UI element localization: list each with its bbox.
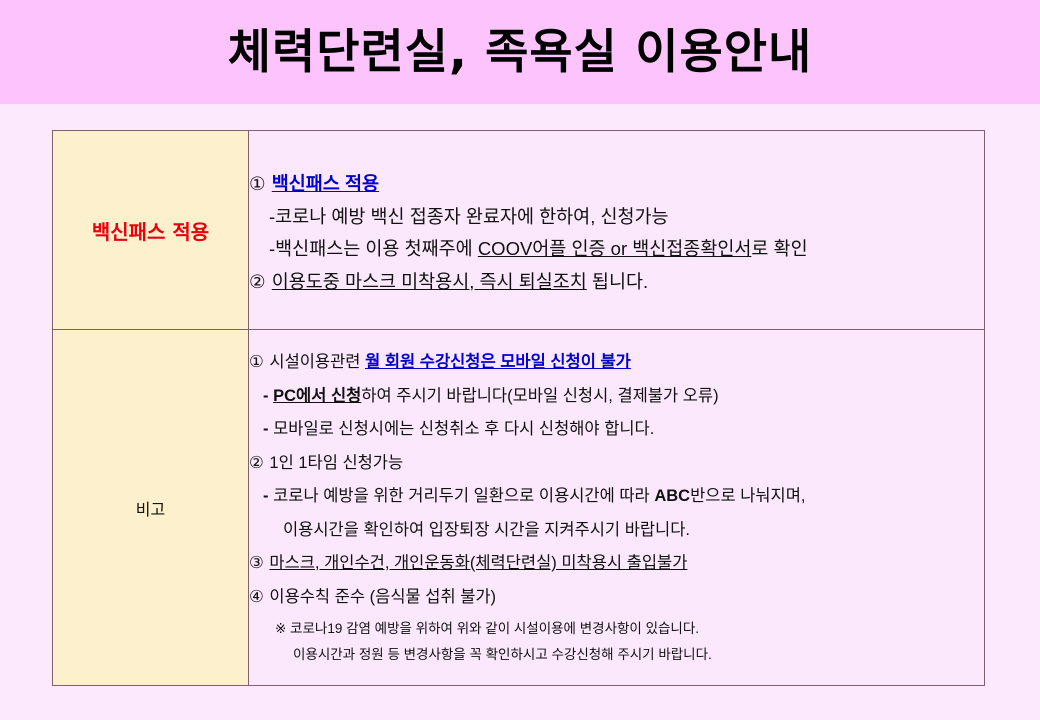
list-item-text: 이용시간을 확인하여 입장퇴장 시간을 지켜주시기 바랍니다.	[283, 521, 690, 539]
page-title: 체력단련실, 족욕실 이용안내	[228, 29, 812, 76]
row-body-cell-remarks: ① 시설이용관련 월 회원 수강신청은 모바일 신청이 불가 - PC에서 신청…	[249, 330, 985, 686]
list-item: - 모바일로 신청시에는 신청취소 후 다시 신청해야 합니다.	[249, 421, 984, 438]
list-item: 이용시간을 확인하여 입장퇴장 시간을 지켜주시기 바랍니다.	[249, 522, 984, 539]
footnote-text: ※ 코로나19 감염 예방을 위하여 위와 같이 시설이용에 변경사항이 있습니…	[275, 621, 699, 636]
row-label-remarks: 비고	[136, 502, 165, 519]
row-label-vaccine-pass: 백신패스 적용	[92, 220, 209, 244]
list-item-text-emphasis: PC에서 신청	[273, 387, 361, 405]
list-item: - 코로나 예방을 위한 거리두기 일환으로 이용시간에 따라 ABC반으로 나…	[249, 488, 984, 505]
list-item-text-highlighted: 월 회원 수강신청은 모바일 신청이 불가	[365, 353, 631, 371]
list-marker: ③	[249, 554, 265, 572]
list-item: ① 백신패스 적용	[249, 175, 984, 194]
list-item: - PC에서 신청하여 주시기 바랍니다(모바일 신청시, 결제불가 오류)	[249, 388, 984, 405]
list-item-text: 반으로 나눠지며,	[690, 487, 805, 505]
list-item: ② 이용도중 마스크 미착용시, 즉시 퇴실조치 됩니다.	[249, 273, 984, 292]
footnote-text: 이용시간과 정원 등 변경사항을 꼭 확인하시고 수강신청해 주시기 바랍니다.	[293, 647, 712, 662]
list-item-text: 됩니다.	[587, 271, 648, 292]
list-item-text: 1인 1타임 신청가능	[269, 454, 403, 472]
list-marker: ①	[249, 173, 267, 194]
row-body-cell-vaccine-pass: ① 백신패스 적용 -코로나 예방 백신 접종자 완료자에 한하여, 신청가능 …	[249, 131, 985, 330]
list-item-text-emphasis: ABC	[654, 487, 690, 505]
list-item: ② 1인 1타임 신청가능	[249, 455, 984, 472]
list-item: -백신패스는 이용 첫째주에 COOV어플 인증 or 백신접종확인서로 확인	[249, 240, 984, 259]
bullet-dash: -	[263, 387, 273, 405]
notice-table: 백신패스 적용 ① 백신패스 적용 -코로나 예방 백신 접종자 완료자에 한하…	[52, 130, 985, 686]
list-marker: ②	[249, 454, 265, 472]
table-row-remarks: 비고 ① 시설이용관련 월 회원 수강신청은 모바일 신청이 불가 - PC에서…	[53, 330, 985, 686]
bullet-dash: -	[263, 420, 273, 438]
list-item: ③ 마스크, 개인수건, 개인운동화(체력단련실) 미착용시 출입불가	[249, 555, 984, 572]
list-item: ④ 이용수칙 준수 (음식물 섭취 불가)	[249, 589, 984, 606]
list-item-text: 이용수칙 준수 (음식물 섭취 불가)	[269, 588, 496, 606]
list-item-text: 모바일로 신청시에는 신청취소 후 다시 신청해야 합니다.	[273, 420, 654, 438]
list-item-text: -백신패스는 이용 첫째주에	[269, 238, 478, 259]
row-label-cell-remarks: 비고	[53, 330, 249, 686]
list-item: ① 시설이용관련 월 회원 수강신청은 모바일 신청이 불가	[249, 354, 984, 371]
table-row-vaccine-pass: 백신패스 적용 ① 백신패스 적용 -코로나 예방 백신 접종자 완료자에 한하…	[53, 131, 985, 330]
list-marker: ④	[249, 588, 265, 606]
list-item-text: 시설이용관련	[269, 353, 365, 371]
notice-table-wrapper: 백신패스 적용 ① 백신패스 적용 -코로나 예방 백신 접종자 완료자에 한하…	[52, 130, 985, 686]
footnote-line: 이용시간과 정원 등 변경사항을 꼭 확인하시고 수강신청해 주시기 바랍니다.	[249, 648, 984, 662]
list-item-text-underlined: 마스크, 개인수건, 개인운동화(체력단련실) 미착용시 출입불가	[269, 554, 687, 572]
list-item-text-underlined: COOV어플 인증 or 백신접종확인서	[478, 238, 752, 259]
list-item-text: 코로나 예방을 위한 거리두기 일환으로 이용시간에 따라	[273, 487, 654, 505]
row-label-cell-vaccine-pass: 백신패스 적용	[53, 131, 249, 330]
list-item-text: 하여 주시기 바랍니다(모바일 신청시, 결제불가 오류)	[361, 387, 718, 405]
footnote-line: ※ 코로나19 감염 예방을 위하여 위와 같이 시설이용에 변경사항이 있습니…	[249, 622, 984, 636]
list-marker: ②	[249, 271, 267, 292]
list-marker: ①	[249, 353, 265, 371]
list-item-text: -코로나 예방 백신 접종자 완료자에 한하여, 신청가능	[269, 206, 669, 227]
list-item: -코로나 예방 백신 접종자 완료자에 한하여, 신청가능	[249, 208, 984, 227]
page-banner: 체력단련실, 족욕실 이용안내	[0, 0, 1040, 104]
list-item-text-underlined: 이용도중 마스크 미착용시, 즉시 퇴실조치	[272, 271, 587, 292]
list-item-text-highlighted: 백신패스 적용	[272, 173, 379, 194]
bullet-dash: -	[263, 487, 273, 505]
list-item-text: 로 확인	[751, 238, 807, 259]
